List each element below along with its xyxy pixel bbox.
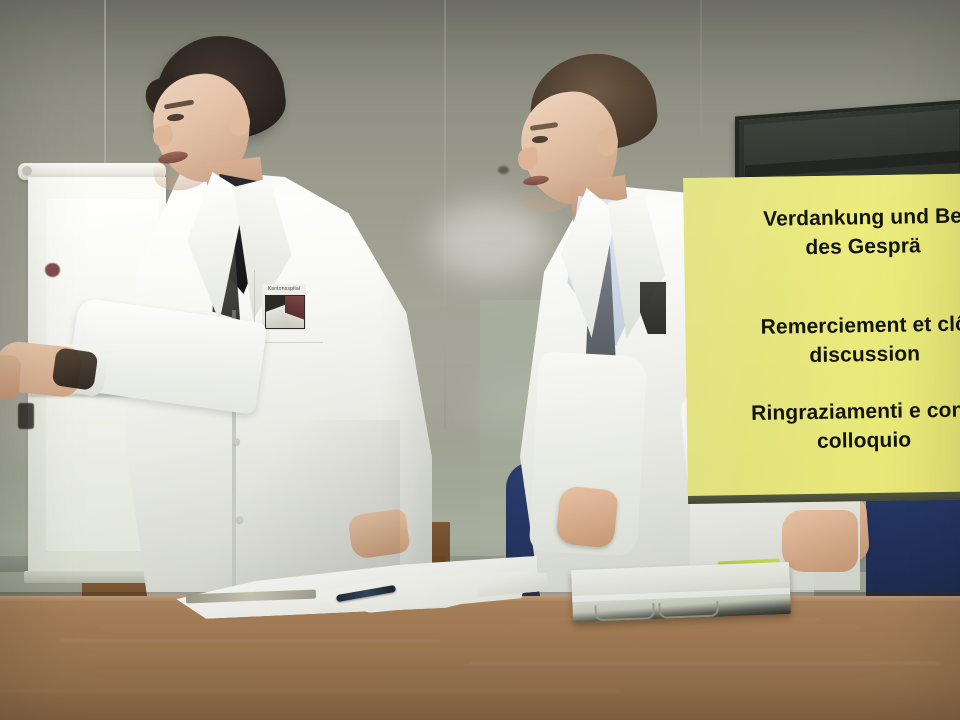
binder-ring: [658, 601, 719, 619]
caption-line: Verdankung und Be: [701, 201, 960, 235]
logo-pane-left: [266, 296, 285, 328]
caption-line: discussion: [704, 338, 960, 372]
caption-line: Ringraziamenti e conc: [700, 395, 960, 429]
conference-table: [0, 596, 960, 720]
table-grain: [0, 690, 620, 692]
hand: [782, 510, 858, 572]
logo-pane-right: [285, 296, 304, 328]
flipchart-clip: [18, 403, 34, 429]
caption-text-group: Verdankung und Be des Gesprä Remerciemen…: [683, 173, 960, 504]
caption-line: colloquio: [701, 424, 960, 458]
table-grain: [60, 640, 440, 642]
lowered-hand: [347, 508, 411, 560]
binder-lip: [572, 588, 790, 602]
coat-button: [233, 438, 240, 445]
caption-line: Remerciement et clô: [703, 309, 960, 343]
caption-line: des Gesprä: [702, 230, 960, 264]
logo-panes: [265, 295, 305, 329]
binder-ring: [594, 603, 655, 621]
ear: [596, 128, 618, 156]
caption-block-german: Verdankung und Be des Gesprä: [683, 201, 960, 264]
ear: [228, 108, 250, 136]
ring-binder: [571, 562, 791, 622]
person-left: Kantonsspital: [120, 20, 460, 620]
table-grain: [470, 662, 940, 664]
caption-block-french: Remerciement et clô discussion: [685, 309, 960, 372]
hospital-logo-badge: Kantonsspital: [262, 284, 306, 330]
video-still-frame: Kantonsspital: [0, 0, 960, 720]
caption-block-italian: Ringraziamenti e conc colloquio: [686, 395, 960, 458]
logo-caption: Kantonsspital: [264, 285, 304, 293]
other-person-hand: [0, 352, 21, 400]
trilingual-caption-panel: Verdankung und Be des Gesprä Remerciemen…: [683, 173, 960, 504]
flipchart-red-dot: [45, 263, 60, 277]
dark-sleeve-cuff: [52, 347, 99, 390]
hand: [555, 485, 619, 549]
coat-button: [236, 516, 243, 523]
